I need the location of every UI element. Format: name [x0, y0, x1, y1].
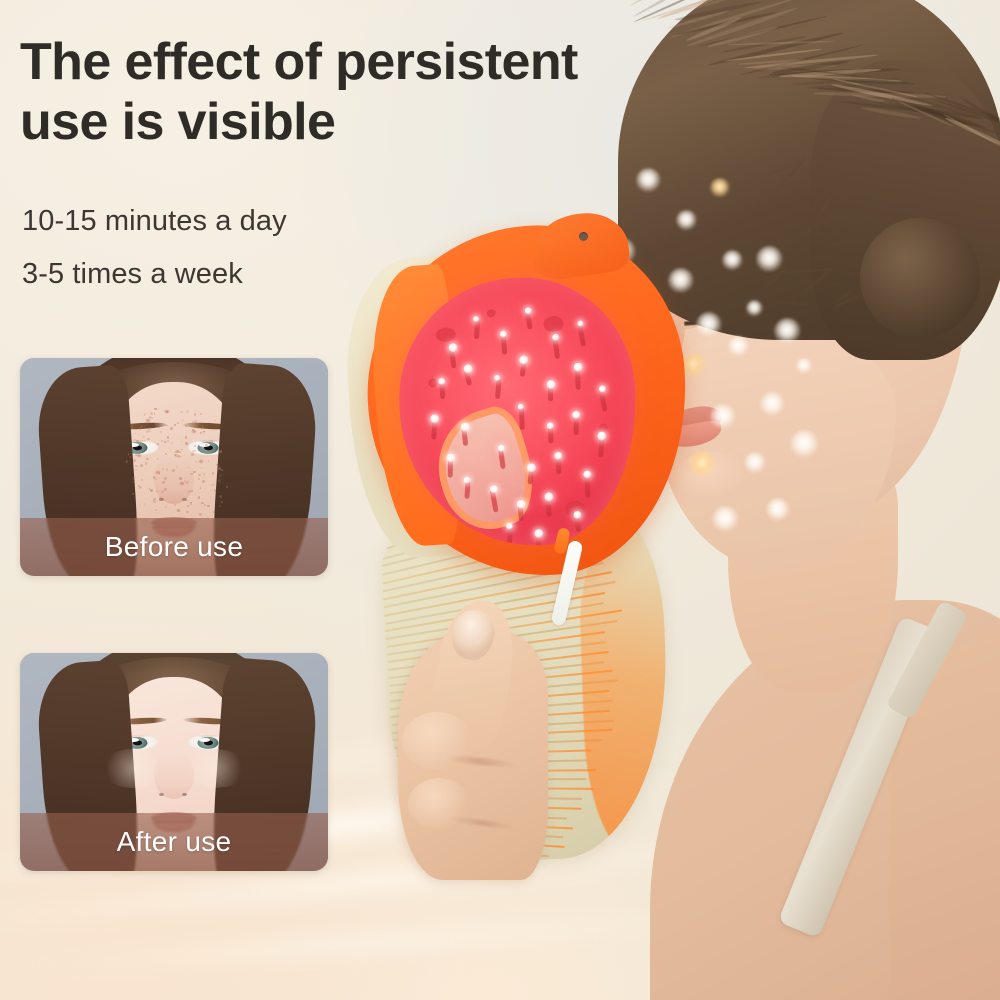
led-light	[463, 364, 473, 374]
led-light	[544, 492, 554, 502]
led-mount	[495, 379, 501, 399]
subject-nose	[154, 456, 194, 504]
usage-frequency-text: 3-5 times a week	[22, 258, 243, 291]
led-light	[517, 500, 526, 509]
led-light	[552, 334, 559, 341]
led-mount	[598, 389, 607, 411]
led-light	[597, 431, 607, 441]
headline-line-2: use is visible	[20, 92, 700, 152]
led-light	[446, 453, 455, 462]
led-light	[577, 320, 584, 327]
before-use-caption-bar: Before use	[20, 518, 328, 576]
subject-nostril	[182, 498, 187, 501]
led-light	[498, 445, 505, 452]
banner-canvas: The effect of persistent use is visible …	[0, 0, 1000, 1000]
led-light	[430, 414, 440, 424]
led-mount	[552, 338, 560, 360]
led-light	[573, 511, 581, 519]
before-use-caption: Before use	[105, 531, 243, 563]
after-use-caption-bar: After use	[20, 813, 328, 871]
page-headline: The effect of persistent use is visible	[20, 32, 700, 153]
led-light	[460, 423, 469, 432]
led-light	[546, 380, 555, 389]
subject-nose	[154, 751, 194, 799]
led-light	[547, 422, 554, 429]
led-light	[583, 470, 591, 478]
led-light	[500, 330, 508, 338]
headline-line-1: The effect of persistent	[20, 33, 578, 91]
subject-nostril	[159, 498, 164, 501]
after-use-caption: After use	[117, 826, 232, 858]
led-light	[574, 363, 583, 372]
panel-vent-hole	[599, 423, 608, 431]
mask-screw-stud-icon	[579, 232, 588, 241]
led-light	[527, 463, 536, 472]
model-hand	[398, 592, 588, 882]
after-use-card[interactable]: After use	[20, 653, 328, 871]
led-light	[438, 378, 446, 386]
subject-nostril	[159, 793, 164, 796]
mask-neck-orange-accent	[577, 537, 672, 858]
led-light	[525, 307, 533, 315]
before-use-card[interactable]: Before use	[20, 358, 328, 576]
led-light	[572, 411, 581, 420]
led-light	[554, 452, 562, 460]
led-mount	[577, 324, 586, 346]
usage-duration-text: 10-15 minutes a day	[22, 205, 287, 238]
subject-nostril	[182, 793, 187, 796]
led-light	[534, 529, 544, 539]
panel-vent-hole	[543, 316, 564, 333]
model-hair-bun	[860, 218, 980, 338]
led-light	[448, 343, 458, 353]
panel-vent-hole	[487, 309, 496, 317]
led-light	[599, 385, 606, 392]
panel-vent-hole	[436, 327, 457, 342]
led-mount	[519, 408, 525, 430]
panel-vent-hole	[428, 378, 437, 387]
led-mount	[474, 320, 480, 339]
led-light	[519, 355, 529, 365]
